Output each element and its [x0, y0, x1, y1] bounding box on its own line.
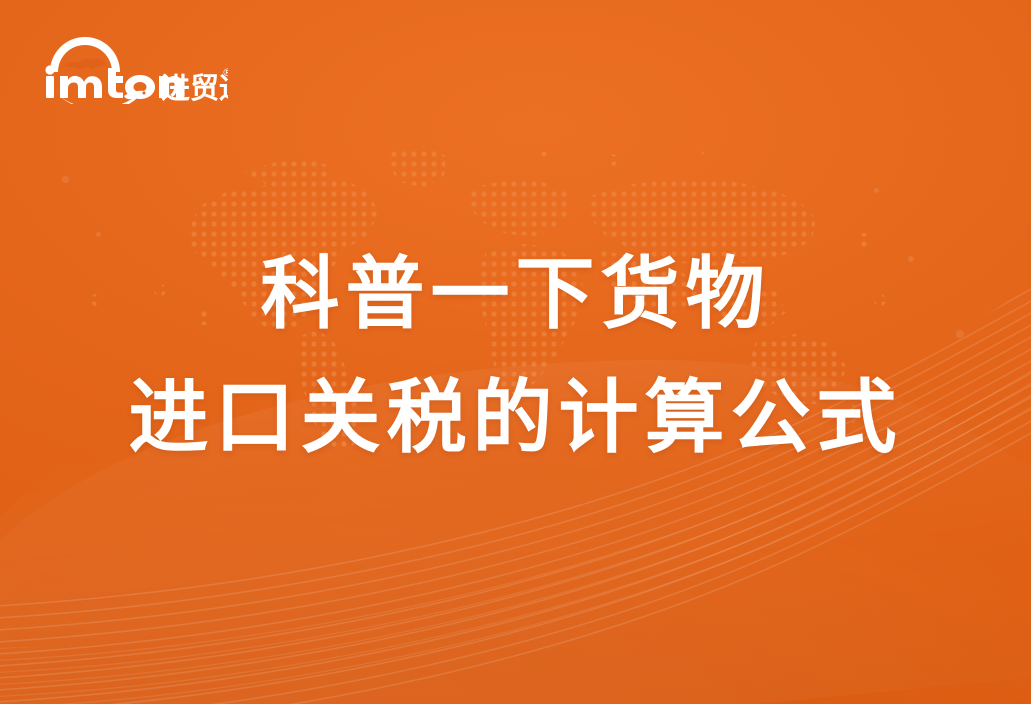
headline: 科普一下货物 进口关税的计算公式: [0, 232, 1031, 480]
globe-arc-icon: [50, 37, 120, 72]
promo-banner: 进贸通 ® 科普一下货物 进口关税的计算公式: [0, 0, 1031, 704]
wave-swoosh-lower: [0, 378, 1031, 704]
dotted-world-map: [0, 0, 1031, 704]
trademark-icon: ®: [222, 66, 228, 79]
wave-swoosh-upper: [0, 226, 1031, 704]
speck-dot: [956, 330, 964, 338]
headline-line-1: 科普一下货物: [0, 232, 1031, 356]
brand-logo[interactable]: 进贸通 ®: [38, 26, 228, 104]
speck-dot: [96, 232, 101, 237]
wave-swoosh-gloss: [0, 360, 1031, 660]
speck-dot: [62, 176, 69, 183]
swoosh-icon: [56, 91, 149, 104]
speck-dot: [874, 188, 879, 193]
headline-line-2: 进口关税的计算公式: [0, 356, 1031, 480]
striped-ribbon: [0, 0, 1031, 704]
logo-chinese-name: 进贸通: [161, 71, 228, 104]
speck-dot: [908, 256, 914, 262]
